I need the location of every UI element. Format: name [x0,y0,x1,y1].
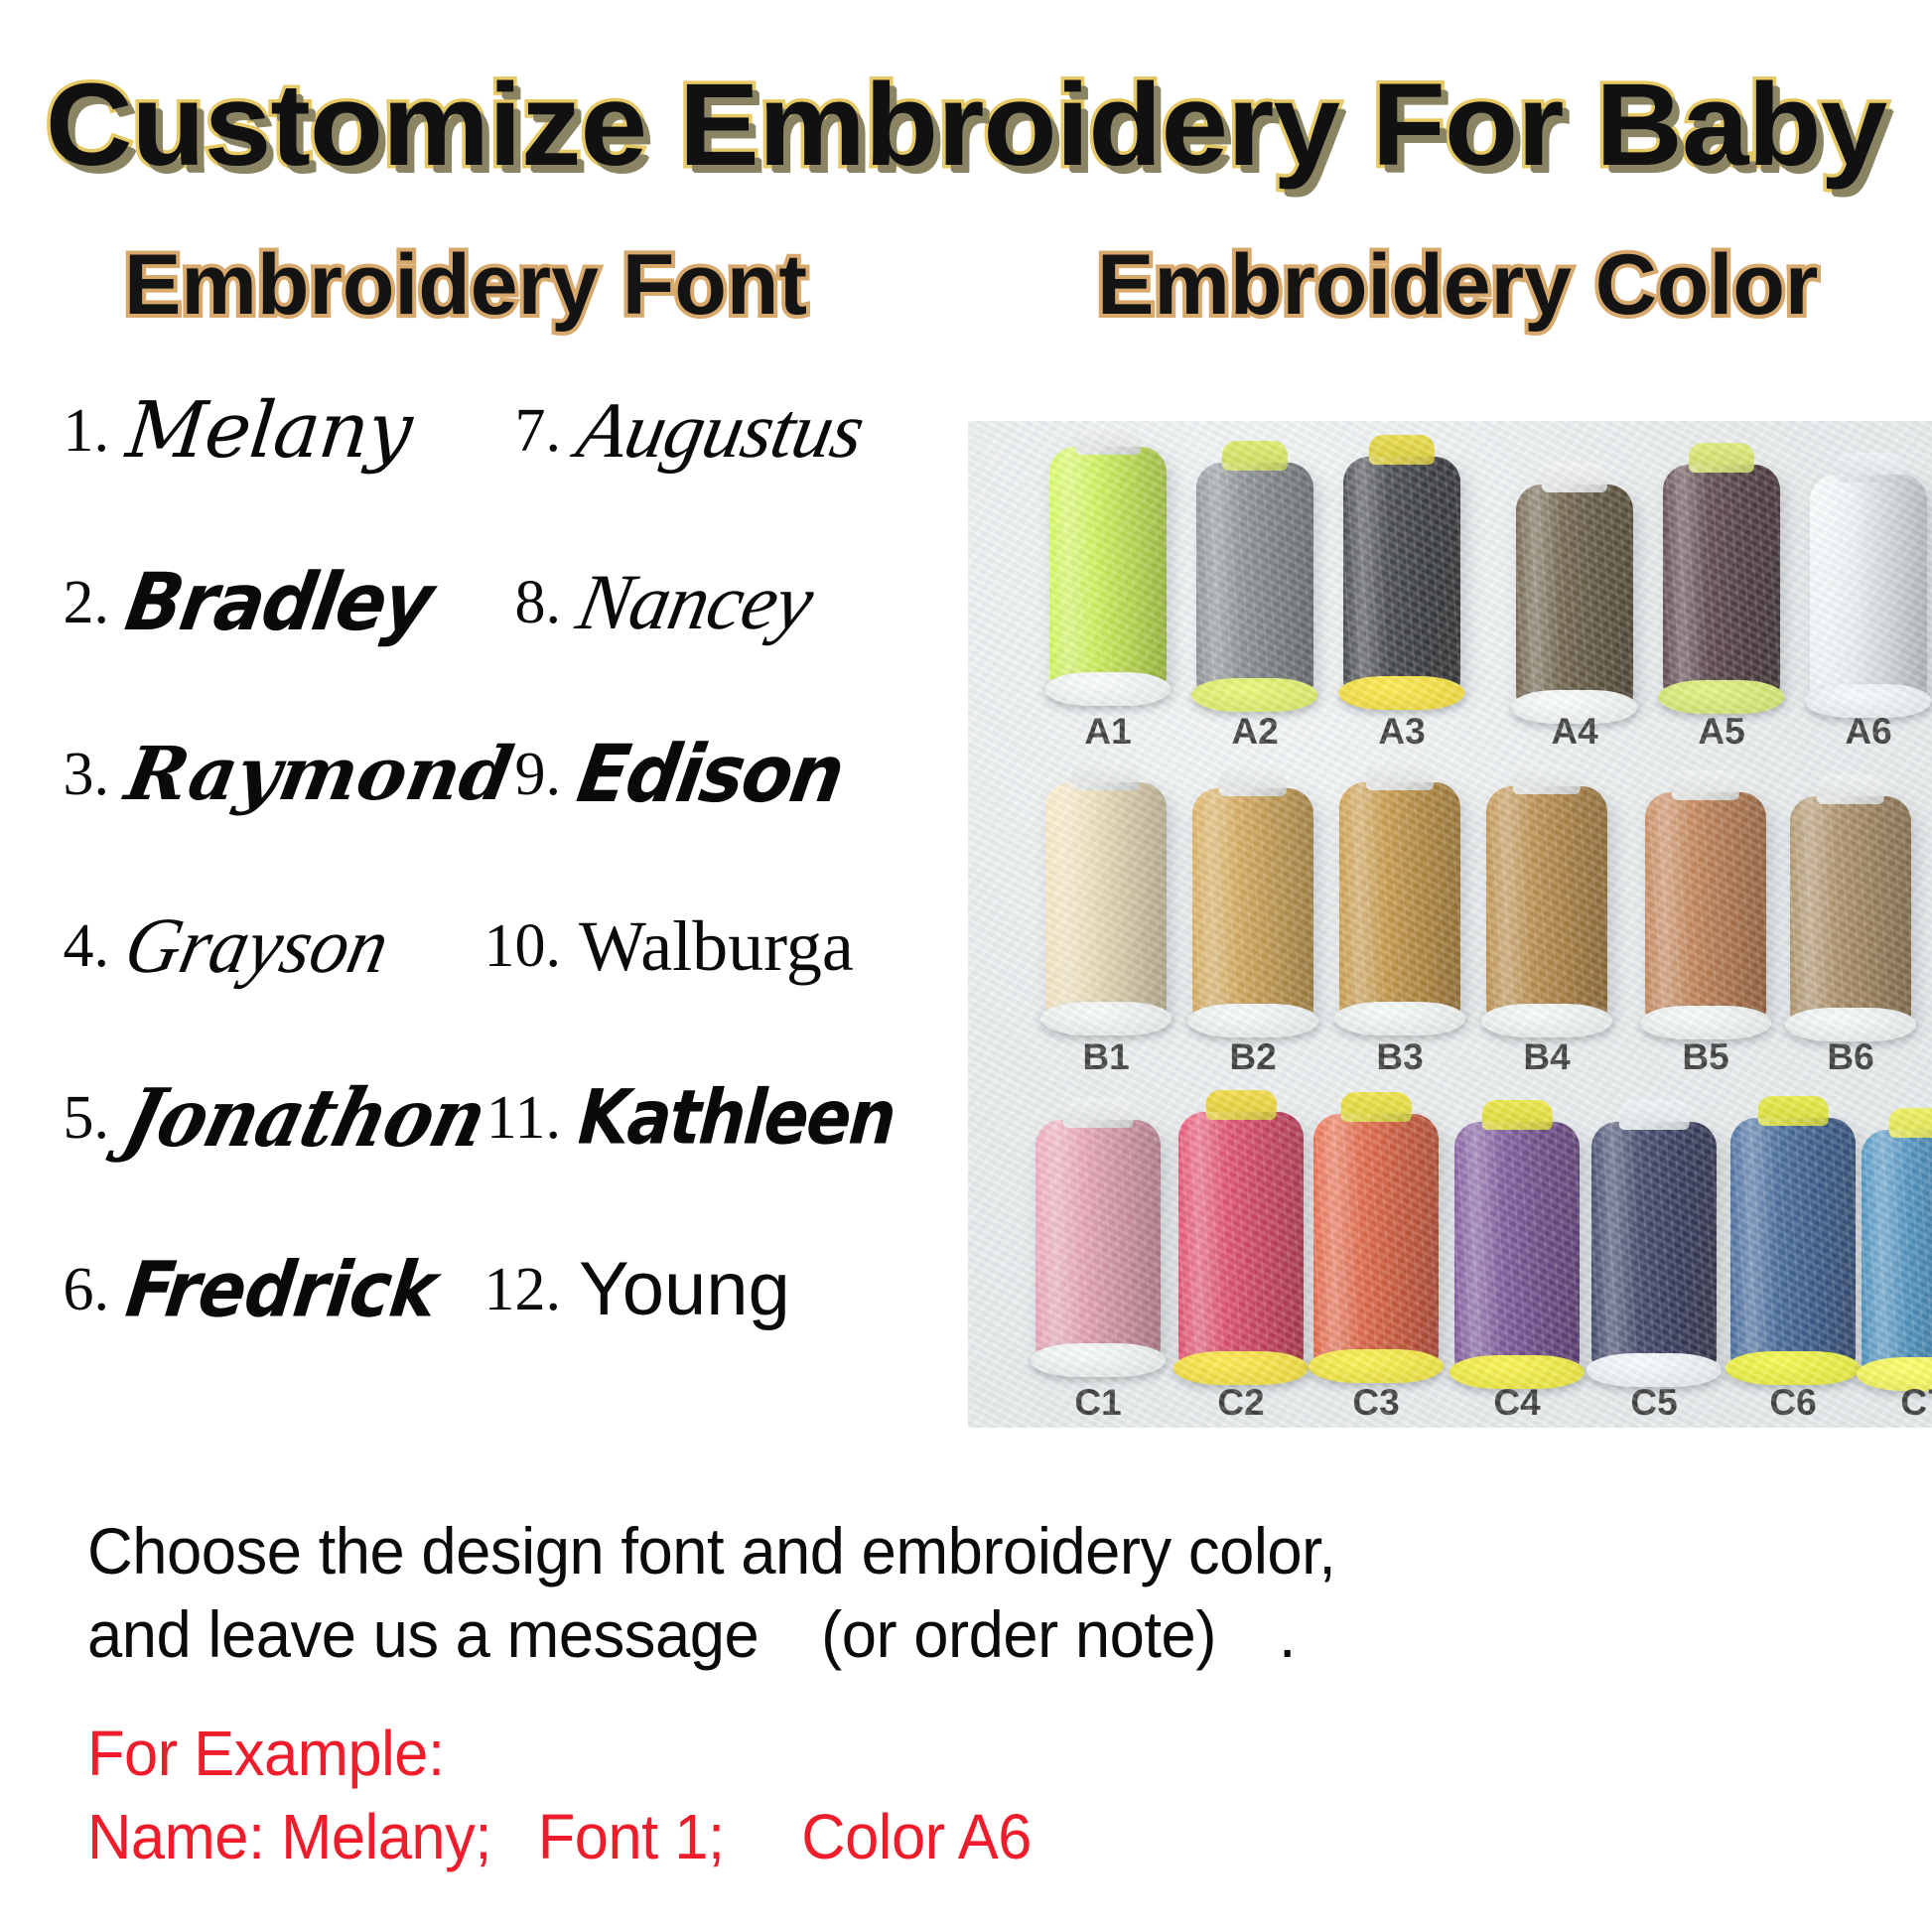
spool-sheen [1192,788,1313,1019]
thread-color-label-C2: C2 [1201,1382,1281,1424]
font-option-7[interactable]: 7.Augustus [462,367,928,494]
font-option-number: 9. [462,744,579,805]
font-option-sample: Grayson [119,906,485,986]
thread-spool-B4[interactable] [1486,786,1607,1019]
spool-sheen [1339,782,1460,1017]
thread-spool-C6[interactable] [1730,1118,1856,1366]
font-option-sample: Walburga [579,910,928,982]
font-list-right-column: 7.Augustus8.Nancey9.Edison10.Walburga11.… [462,367,928,1440]
thread-spool-B2[interactable] [1192,788,1313,1019]
thread-color-label-B6: B6 [1811,1036,1890,1078]
spool-sheen [1049,447,1167,687]
example-text: For Example: Name: Melany; Font 1; Color… [87,1712,1765,1879]
thread-color-photo: A1A2A3A4A5A6 B1B2B3B4B5B6 C1C2C3C4C5C6C7 [968,421,1932,1428]
thread-spool-C3[interactable] [1313,1114,1439,1364]
spool-sheen [1862,1130,1932,1372]
spool-base-cap [1334,1002,1465,1035]
embroidery-font-heading: Embroidery Font [124,236,807,335]
thread-color-label-B3: B3 [1360,1036,1440,1078]
font-option-sample: Augustus [571,391,936,471]
spool-sheen [1196,463,1313,693]
thread-row-c: C1C2C3C4C5C6C7 [968,1080,1932,1428]
spool-base-cap [1173,1351,1309,1385]
font-option-3[interactable]: 3.Raymond [10,711,477,838]
spool-base-cap [1187,1004,1318,1037]
spool-sheen [1343,457,1460,691]
font-option-sample: Nancey [571,563,936,642]
font-option-8[interactable]: 8.Nancey [462,539,928,666]
thread-color-label-C7: C7 [1884,1382,1932,1424]
thread-spool-A3[interactable] [1343,457,1460,691]
font-option-number: 1. [10,400,127,462]
spool-sheen [1591,1122,1717,1368]
thread-color-label-A1: A1 [1068,711,1148,753]
thread-spool-C4[interactable] [1454,1122,1580,1370]
font-option-10[interactable]: 10.Walburga [462,883,928,1010]
font-option-number: 2. [10,572,127,633]
thread-spool-A6[interactable] [1810,475,1927,699]
font-option-sample: Edison [573,735,935,814]
instructions-text: Choose the design font and embroidery co… [87,1509,1765,1677]
spool-sheen [1516,484,1633,705]
embroidery-color-heading: Embroidery Color [1097,236,1818,335]
font-option-12[interactable]: 12.Young [462,1226,928,1353]
spool-base-cap [1044,672,1171,706]
thread-color-label-B4: B4 [1507,1036,1587,1078]
spool-sheen [1045,782,1167,1017]
font-option-number: 3. [10,744,127,805]
instructions-line-2: and leave us a message (or order note) . [87,1592,1765,1676]
thread-spool-B6[interactable] [1790,796,1911,1023]
font-option-1[interactable]: 1.Melany [10,367,477,494]
spool-base-cap [1481,1004,1612,1037]
spool-base-cap [1031,1343,1166,1377]
font-option-number: 11. [462,1087,579,1149]
spool-sheen [1730,1118,1856,1366]
spool-sheen [1790,796,1911,1023]
thread-color-label-C1: C1 [1058,1382,1138,1424]
font-option-5[interactable]: 5.Jonathon [10,1054,477,1181]
spool-sheen [1454,1122,1580,1370]
font-option-sample: Fredrick [122,1252,481,1328]
font-option-number: 8. [462,572,579,633]
font-option-sample: Young [579,1252,928,1327]
thread-spool-A5[interactable] [1663,465,1780,695]
font-option-9[interactable]: 9.Edison [462,711,928,838]
spool-sheen [1663,465,1780,695]
thread-color-label-B2: B2 [1213,1036,1293,1078]
thread-spool-B3[interactable] [1339,782,1460,1017]
spool-base-cap [1658,680,1784,714]
font-list: 1.Melany2.Bradley3.Raymond4.Grayson5.Jon… [0,367,953,1440]
font-option-sample: Kathleen [576,1080,930,1156]
thread-color-label-A5: A5 [1682,711,1761,753]
thread-spool-A4[interactable] [1516,484,1633,705]
thread-color-label-C3: C3 [1336,1382,1416,1424]
font-option-sample: Bradley [121,563,483,642]
thread-spool-C5[interactable] [1591,1122,1717,1368]
font-option-number: 4. [10,915,127,977]
thread-color-label-B1: B1 [1066,1036,1146,1078]
spool-base-cap [1338,676,1464,710]
example-detail: Name: Melany; Font 1; Color A6 [87,1795,1765,1878]
thread-spool-C2[interactable] [1178,1112,1304,1366]
spool-sheen [1486,786,1607,1019]
instructions-line-1: Choose the design font and embroidery co… [87,1509,1765,1592]
font-option-6[interactable]: 6.Fredrick [10,1226,477,1353]
spool-sheen [1178,1112,1304,1366]
thread-color-label-C6: C6 [1753,1382,1833,1424]
thread-spool-B5[interactable] [1645,792,1766,1021]
thread-spool-C7[interactable] [1862,1130,1932,1372]
spool-base-cap [1040,1002,1172,1035]
spool-base-cap [1309,1349,1444,1383]
thread-color-label-C5: C5 [1614,1382,1694,1424]
spool-base-cap [1640,1006,1771,1039]
thread-spool-A1[interactable] [1049,447,1167,687]
font-option-number: 7. [462,400,579,462]
spool-base-cap [1191,678,1317,712]
spool-base-cap [1725,1351,1861,1385]
font-option-sample: Raymond [120,738,517,811]
thread-color-label-A2: A2 [1215,711,1295,753]
font-option-sample: Jonathon [117,1078,493,1159]
font-option-number: 12. [462,1259,579,1320]
thread-spool-C1[interactable] [1035,1120,1161,1358]
font-option-number: 10. [462,915,579,977]
font-option-number: 5. [10,1087,127,1149]
font-option-sample: Melany [123,392,481,470]
thread-spool-A2[interactable] [1196,463,1313,693]
thread-row-a: A1A2A3A4A5A6 [968,425,1932,753]
font-list-left-column: 1.Melany2.Bradley3.Raymond4.Grayson5.Jon… [10,367,477,1440]
thread-color-label-A3: A3 [1362,711,1442,753]
page-title: Customize Embroidery For Baby [0,58,1932,193]
spool-sheen [1035,1120,1161,1358]
thread-color-label-B5: B5 [1666,1036,1745,1078]
thread-spool-B1[interactable] [1045,782,1167,1017]
spool-sheen [1810,475,1927,699]
font-option-2[interactable]: 2.Bradley [10,539,477,666]
thread-color-label-A6: A6 [1829,711,1908,753]
spool-sheen [1313,1114,1439,1364]
thread-color-label-A4: A4 [1535,711,1614,753]
example-heading: For Example: [87,1712,1765,1795]
thread-color-label-C4: C4 [1477,1382,1557,1424]
font-option-4[interactable]: 4.Grayson [10,883,477,1010]
spool-sheen [1645,792,1766,1021]
font-option-11[interactable]: 11.Kathleen [462,1054,928,1181]
thread-row-b: B1B2B3B4B5B6 [968,753,1932,1080]
font-option-number: 6. [10,1259,127,1320]
